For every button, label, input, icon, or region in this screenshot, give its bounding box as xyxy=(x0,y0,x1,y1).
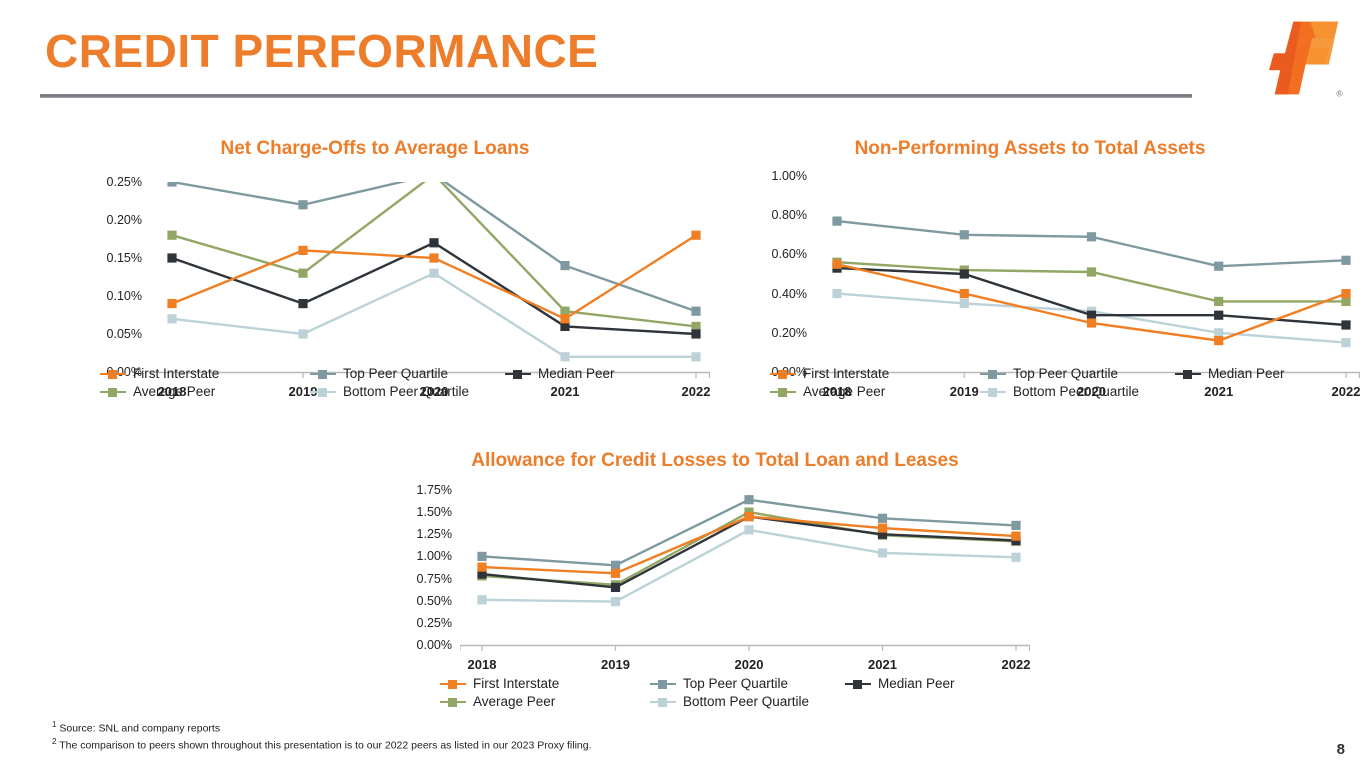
legend-item-median-peer: Median Peer xyxy=(845,676,955,691)
footnote-marker: 2 xyxy=(52,737,56,746)
chart-title: Allowance for Credit Losses to Total Loa… xyxy=(370,450,1060,472)
chart-canvas xyxy=(815,176,1360,398)
series-line xyxy=(837,221,1346,266)
series-marker xyxy=(298,329,307,338)
legend-label: Top Peer Quartile xyxy=(1013,366,1118,381)
series-marker xyxy=(560,314,569,323)
series-line xyxy=(482,517,1016,574)
legend-label: First Interstate xyxy=(473,676,559,691)
legend-label: Top Peer Quartile xyxy=(343,366,448,381)
legend-item-median-peer: Median Peer xyxy=(505,366,615,381)
legend-swatch-icon xyxy=(100,368,126,380)
series-marker xyxy=(832,260,841,269)
legend-label: Average Peer xyxy=(473,694,555,709)
chart-legend: First Interstate Top Peer Quartile Media… xyxy=(440,676,1040,712)
series-marker xyxy=(1341,256,1350,265)
y-axis-tick-label: 0.05% xyxy=(107,327,142,341)
legend-item-average-peer: Average Peer xyxy=(100,384,310,399)
legend-label: Median Peer xyxy=(1208,366,1285,381)
footnote-text: Source: SNL and company reports xyxy=(59,722,220,734)
page-number: 8 xyxy=(1337,741,1345,758)
legend-item-bottom-peer-quartile: Bottom Peer Quartile xyxy=(980,384,1175,399)
series-marker xyxy=(1214,311,1223,320)
legend-label: Top Peer Quartile xyxy=(683,676,788,691)
series-marker xyxy=(560,261,569,270)
chart-title: Non-Performing Assets to Total Assets xyxy=(700,138,1360,160)
series-marker xyxy=(167,182,176,187)
series-marker xyxy=(960,269,969,278)
x-axis-tick-label: 2018 xyxy=(468,657,497,672)
y-axis-tick-label: 0.60% xyxy=(772,247,807,261)
series-marker xyxy=(611,583,620,592)
series-marker xyxy=(611,561,620,570)
legend-swatch-icon xyxy=(310,386,336,398)
series-line xyxy=(482,530,1016,602)
footnotes: 1 Source: SNL and company reports 2 The … xyxy=(52,719,592,754)
series-marker xyxy=(1087,232,1096,241)
legend-item-first-interstate: First Interstate xyxy=(100,366,310,381)
legend-label: Bottom Peer Quartile xyxy=(1013,384,1139,399)
y-axis-tick-label: 1.50% xyxy=(417,505,452,519)
series-marker xyxy=(744,495,753,504)
x-axis-tick-label: 2021 xyxy=(868,657,897,672)
first-interstate-logo: ® xyxy=(1251,16,1347,100)
y-axis-tick-label: 0.20% xyxy=(772,326,807,340)
series-marker xyxy=(1214,336,1223,345)
legend-label: First Interstate xyxy=(133,366,219,381)
y-axis-tick-label: 1.25% xyxy=(417,527,452,541)
series-marker xyxy=(477,563,486,572)
legend-swatch-icon xyxy=(980,386,1006,398)
y-axis-tick-label: 0.00% xyxy=(417,638,452,652)
legend-label: First Interstate xyxy=(803,366,889,381)
legend-item-first-interstate: First Interstate xyxy=(770,366,980,381)
series-marker xyxy=(1011,553,1020,562)
footnote-1: 1 Source: SNL and company reports xyxy=(52,719,592,737)
series-marker xyxy=(429,253,438,262)
series-line xyxy=(482,512,1016,585)
legend-item-first-interstate: First Interstate xyxy=(440,676,650,691)
series-marker xyxy=(477,595,486,604)
series-marker xyxy=(560,352,569,361)
legend-swatch-icon xyxy=(440,696,466,708)
series-marker xyxy=(960,289,969,298)
series-marker xyxy=(1087,318,1096,327)
legend-item-bottom-peer-quartile: Bottom Peer Quartile xyxy=(310,384,505,399)
series-marker xyxy=(167,299,176,308)
series-marker xyxy=(298,269,307,278)
y-axis-tick-label: 1.00% xyxy=(772,169,807,183)
series-marker xyxy=(1087,267,1096,276)
y-axis-tick-label: 0.20% xyxy=(107,213,142,227)
legend-item-top-peer-quartile: Top Peer Quartile xyxy=(980,366,1175,381)
legend-swatch-icon xyxy=(1175,368,1201,380)
legend-swatch-icon xyxy=(770,368,796,380)
chart-net-charge-offs: Net Charge-Offs to Average Loans 0.00%0.… xyxy=(40,138,710,398)
plot-area xyxy=(150,182,710,372)
legend-item-top-peer-quartile: Top Peer Quartile xyxy=(310,366,505,381)
legend-swatch-icon xyxy=(100,386,126,398)
series-marker xyxy=(298,246,307,255)
series-marker xyxy=(960,230,969,239)
series-marker xyxy=(744,512,753,521)
series-marker xyxy=(1011,521,1020,530)
svg-text:®: ® xyxy=(1336,88,1343,98)
series-marker xyxy=(167,314,176,323)
series-marker xyxy=(744,525,753,534)
series-marker xyxy=(1214,297,1223,306)
series-marker xyxy=(1341,289,1350,298)
y-axis-tick-label: 0.15% xyxy=(107,251,142,265)
plot-area xyxy=(460,490,1030,645)
legend-item-bottom-peer-quartile: Bottom Peer Quartile xyxy=(650,694,845,709)
series-marker xyxy=(960,299,969,308)
series-marker xyxy=(832,289,841,298)
legend-label: Bottom Peer Quartile xyxy=(343,384,469,399)
legend-label: Median Peer xyxy=(538,366,615,381)
series-marker xyxy=(1011,532,1020,541)
series-marker xyxy=(167,253,176,262)
series-marker xyxy=(1341,338,1350,347)
series-marker xyxy=(878,514,887,523)
series-marker xyxy=(1341,320,1350,329)
footnote-2: 2 The comparison to peers shown througho… xyxy=(52,736,592,754)
legend-swatch-icon xyxy=(845,678,871,690)
series-marker xyxy=(298,200,307,209)
series-marker xyxy=(167,231,176,240)
series-marker xyxy=(298,299,307,308)
y-axis-tick-label: 1.00% xyxy=(417,549,452,563)
y-axis-tick-label: 0.25% xyxy=(107,175,142,189)
chart-canvas xyxy=(460,490,1030,671)
legend-label: Average Peer xyxy=(133,384,215,399)
y-axis-tick-label: 0.80% xyxy=(772,208,807,222)
y-axis-tick-label: 0.75% xyxy=(417,572,452,586)
series-marker xyxy=(832,217,841,226)
legend-label: Average Peer xyxy=(803,384,885,399)
footnote-text: The comparison to peers shown throughout… xyxy=(59,740,591,752)
series-marker xyxy=(429,269,438,278)
series-marker xyxy=(611,597,620,606)
y-axis-tick-label: 0.40% xyxy=(772,287,807,301)
y-axis-tick-label: 0.50% xyxy=(417,594,452,608)
legend-swatch-icon xyxy=(650,696,676,708)
legend-swatch-icon xyxy=(310,368,336,380)
x-axis-tick-label: 2022 xyxy=(1002,657,1031,672)
legend-item-top-peer-quartile: Top Peer Quartile xyxy=(650,676,845,691)
legend-item-median-peer: Median Peer xyxy=(1175,366,1285,381)
title-divider xyxy=(40,94,1192,98)
legend-swatch-icon xyxy=(440,678,466,690)
y-axis-tick-label: 0.25% xyxy=(417,616,452,630)
legend-swatch-icon xyxy=(770,386,796,398)
legend-swatch-icon xyxy=(980,368,1006,380)
legend-label: Bottom Peer Quartile xyxy=(683,694,809,709)
y-axis-tick-label: 0.10% xyxy=(107,289,142,303)
page-title: CREDIT PERFORMANCE xyxy=(45,28,598,74)
chart-title: Net Charge-Offs to Average Loans xyxy=(40,138,710,160)
series-marker xyxy=(1214,262,1223,271)
footnote-marker: 1 xyxy=(52,720,56,729)
legend-item-average-peer: Average Peer xyxy=(770,384,980,399)
series-marker xyxy=(878,524,887,533)
series-marker xyxy=(878,548,887,557)
legend-swatch-icon xyxy=(505,368,531,380)
x-axis-tick-label: 2019 xyxy=(601,657,630,672)
y-axis-tick-label: 1.75% xyxy=(417,483,452,497)
series-marker xyxy=(611,569,620,578)
legend-item-average-peer: Average Peer xyxy=(440,694,650,709)
slide-root: CREDIT PERFORMANCE ® Net Charge-Offs to … xyxy=(0,0,1365,768)
x-axis-tick-label: 2020 xyxy=(735,657,764,672)
legend-swatch-icon xyxy=(650,678,676,690)
legend-label: Median Peer xyxy=(878,676,955,691)
plot-area xyxy=(815,176,1360,372)
chart-allowance-credit-losses: Allowance for Credit Losses to Total Loa… xyxy=(370,450,1060,665)
chart-non-performing-assets: Non-Performing Assets to Total Assets 0.… xyxy=(700,138,1360,398)
chart-legend: First Interstate Top Peer Quartile Media… xyxy=(100,366,700,402)
series-marker xyxy=(429,238,438,247)
series-marker xyxy=(477,552,486,561)
chart-legend: First Interstate Top Peer Quartile Media… xyxy=(770,366,1365,402)
